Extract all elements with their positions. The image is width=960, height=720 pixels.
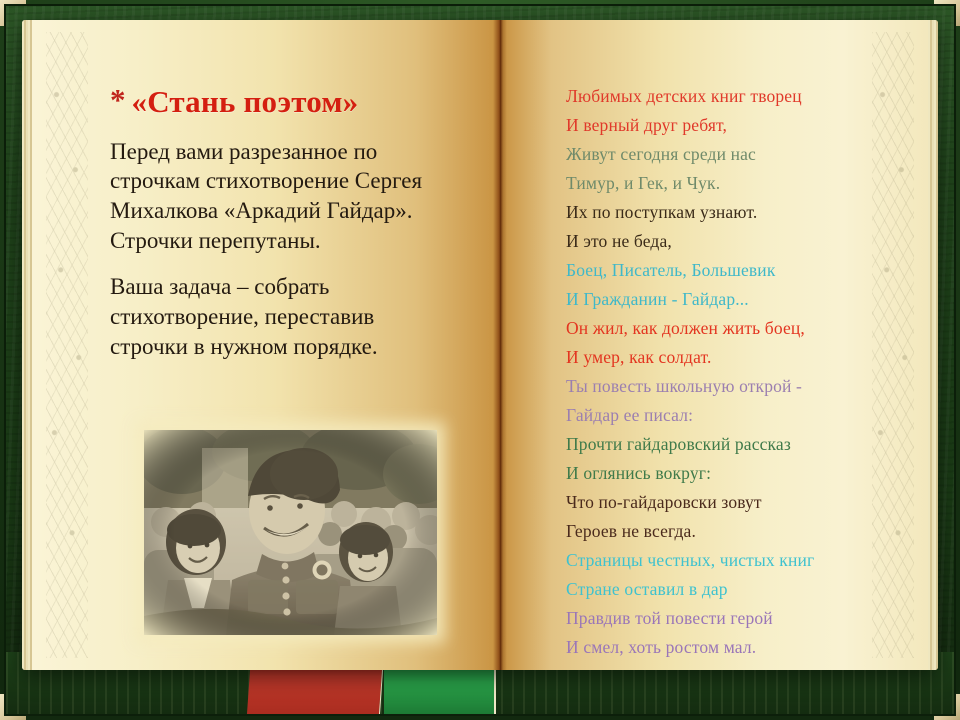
poem-line[interactable]: Ты повесть школьную открой - xyxy=(566,372,902,401)
poem-line[interactable]: Что по-гайдаровски зовут xyxy=(566,488,902,517)
poem-line[interactable]: Страницы честных, чистых книг xyxy=(566,546,902,575)
poem-line[interactable]: И оглянись вокруг: xyxy=(566,459,902,488)
poem-line[interactable]: И это не беда, xyxy=(566,227,902,256)
page-title: «Стань поэтом» xyxy=(132,86,359,119)
poem-line[interactable]: Любимых детских книг творец xyxy=(566,82,902,111)
asterisk-bullet-icon: * xyxy=(110,84,126,115)
poem-line[interactable]: Стране оставил в дар xyxy=(566,575,902,604)
left-page: * «Стань поэтом» Перед вами разрезанное … xyxy=(32,20,500,670)
poem-line[interactable]: И умер, как солдат. xyxy=(566,343,902,372)
book-gutter-shadow xyxy=(493,20,507,670)
photo-container xyxy=(144,430,437,635)
instruction-paragraph-1: Перед вами разрезанное по строчкам стихо… xyxy=(110,137,440,257)
poem-line[interactable]: Живут сегодня среди нас xyxy=(566,140,902,169)
poem-line[interactable]: Их по поступкам узнают. xyxy=(566,198,902,227)
poem-line[interactable]: Боец, Писатель, Большевик xyxy=(566,256,902,285)
poem-line[interactable]: Он жил, как должен жить боец, xyxy=(566,314,902,343)
poem-lines-list: Любимых детских книг творецИ верный друг… xyxy=(566,82,902,662)
poem-line[interactable]: Гайдар ее писал: xyxy=(566,401,902,430)
left-page-content: * «Стань поэтом» Перед вами разрезанное … xyxy=(110,84,440,378)
arkady-gaydar-with-children-photo xyxy=(144,430,437,635)
poem-line[interactable]: Героев не всегда. xyxy=(566,517,902,546)
poem-line[interactable]: Правдив той повести герой xyxy=(566,604,902,633)
poem-line[interactable]: Тимур, и Гек, и Чук. xyxy=(566,169,902,198)
slide-stage: * «Стань поэтом» Перед вами разрезанное … xyxy=(0,0,960,720)
poem-line[interactable]: И Гражданин - Гайдар... xyxy=(566,285,902,314)
poem-line[interactable]: Прочти гайдаровский рассказ xyxy=(566,430,902,459)
instruction-paragraph-2: Ваша задача – собрать стихотворение, пер… xyxy=(110,272,440,362)
page-watermark-left xyxy=(46,32,88,658)
poem-line[interactable]: И верный друг ребят, xyxy=(566,111,902,140)
deck-title-row: * «Стань поэтом» xyxy=(110,84,440,119)
poem-line[interactable]: И смел, хоть ростом мал. xyxy=(566,633,902,662)
right-page: Любимых детских книг творецИ верный друг… xyxy=(500,20,928,670)
open-book: * «Стань поэтом» Перед вами разрезанное … xyxy=(22,20,938,670)
